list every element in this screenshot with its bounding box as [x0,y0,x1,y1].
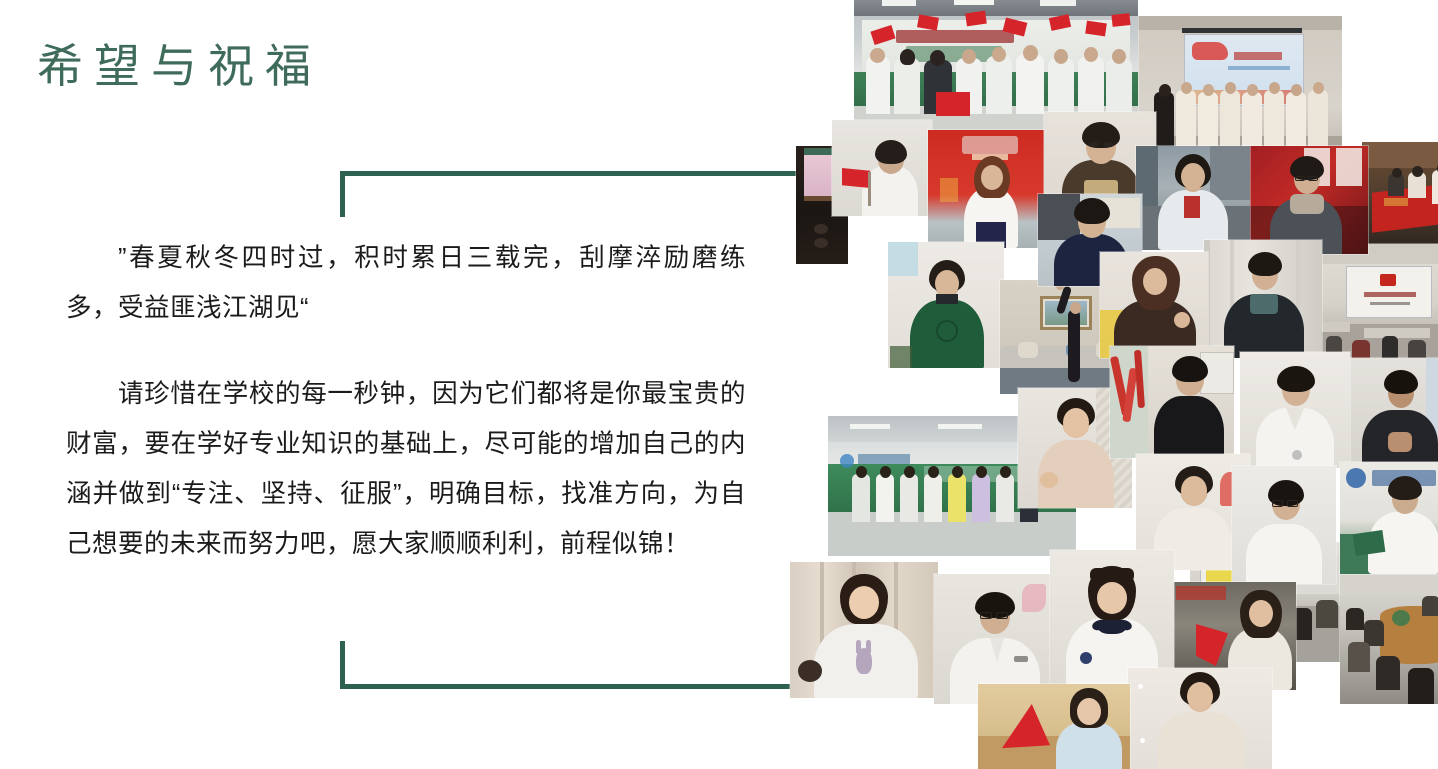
photo-meeting-red-table [1362,142,1438,252]
photo-collage [780,0,1438,769]
body-paragraph: 请珍惜在学校的每一秒钟，因为它们都将是你最宝贵的财富，要在学好专业知识的基础上，… [66,369,746,569]
slide-canvas: 希望与祝福 ”春夏秋冬四时过，积时累日三载完，刮摩淬励磨练多，受益匪浅江湖见“ … [0,0,1438,769]
photo-woman-cream-sweater-bottom [1128,668,1272,769]
bracket-bottom-horizontal [340,684,812,689]
photo-woman-holding-red-flag [832,120,932,216]
photo-woman-bunny-sweater [790,562,938,698]
photo-man-white-shirt-short-hair [1240,352,1350,468]
photo-woman-green-sweater [888,242,1004,368]
photo-man-black-shirt-plants [1110,346,1234,458]
photo-man-dark-puffer-curtain [1204,240,1322,358]
photo-girl-flag-daylight [978,684,1130,769]
photo-man-glasses-white-shirt [1232,466,1336,584]
bracket-top-horizontal [340,171,812,176]
bracket-top-vertical [340,171,345,217]
photo-woman-white-down-jacket-street [1136,146,1250,250]
photo-conference-room-meeting [1340,572,1438,704]
bracket-bottom-vertical [340,641,345,689]
page-title: 希望与祝福 [37,38,322,94]
photo-man-dark-top-right [1348,358,1438,470]
photo-teacher-university-banner [1340,462,1438,574]
photo-man-scarf-red-banner [1244,146,1368,254]
photo-woman-red-tiananmen-backdrop [928,130,1050,248]
photo-woman-fur-coat [1100,252,1208,358]
quote-paragraph: ”春夏秋冬四时过，积时累日三载完，刮摩淬励磨练多，受益匪浅江湖见“ [66,233,746,333]
